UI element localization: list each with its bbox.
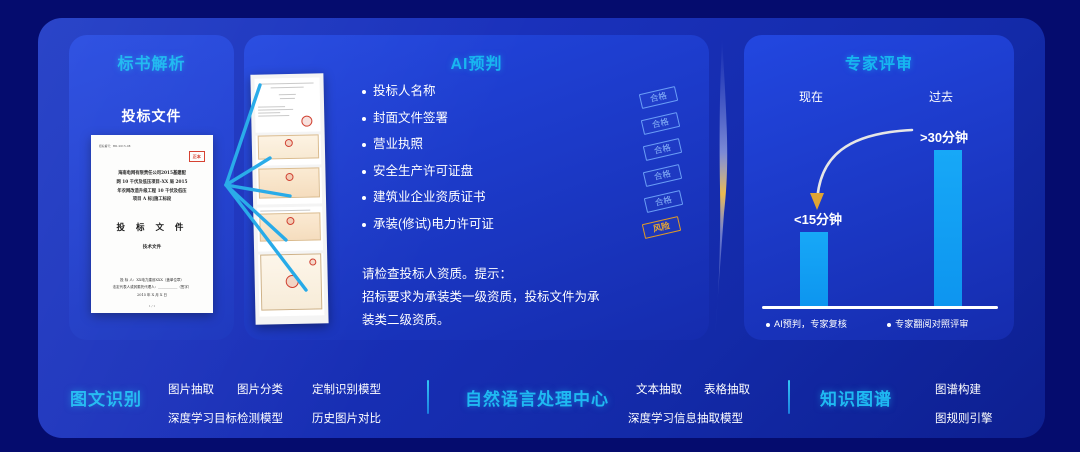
ai-advice-note: 请检查投标人资质。提示： 招标要求为承装类一级资质，投标文件为承 装类二级资质。 (362, 263, 642, 332)
footer-title-image-text: 图文识别 (70, 385, 142, 410)
certificate-scroll-preview[interactable] (250, 73, 328, 324)
panel-title-expert: 专家评审 (744, 50, 1014, 74)
chart-legend-now: AI预判，专家复核 (766, 316, 847, 330)
trend-arrow-icon (744, 35, 1014, 340)
footer-separator (788, 380, 790, 414)
chart-value-past: >30分钟 (920, 127, 968, 146)
footer-group-image-text: 图文识别 图片抽取 图片分类 定制识别模型 深度学习目标检测模型 历史图片对比 (38, 354, 398, 438)
main-card: 标书解析 投标文件 招标编号：BD-2015-08 正本 海南电网有限责任公司2… (38, 18, 1045, 438)
document-page-number: 1 / 1 (91, 304, 213, 308)
checklist-item: 封面文件签署 (362, 112, 602, 125)
certificate-page (258, 253, 324, 316)
chart-legend-past: 专家翻阅对照评审 (887, 316, 969, 330)
document-code: 招标编号：BD-2015-08 (99, 144, 205, 148)
ai-checklist: 投标人名称 封面文件签署 营业执照 安全生产许可证盘 建筑业企业资质证书 承装(… (362, 85, 602, 244)
checklist-item: 投标人名称 (362, 85, 602, 98)
checklist-item: 营业执照 (362, 138, 602, 151)
document-footer: 投 标 人：XX电力建设XXX（盖单位章） 法定代表人或其委托代理人：_____… (99, 277, 205, 299)
checklist-item: 建筑业企业资质证书 (362, 191, 602, 204)
footer-group-nlp: 自然语言处理中心 文本抽取 表格抽取 深度学习信息抽取模型 (438, 354, 808, 438)
footer-item[interactable]: 历史图片对比 (312, 410, 381, 426)
capability-footer: 图文识别 图片抽取 图片分类 定制识别模型 深度学习目标检测模型 历史图片对比 … (38, 354, 1045, 438)
certificate-page (254, 77, 320, 132)
status-badge: 合格 (644, 190, 683, 213)
checklist-item: 承装(修试)电力许可证 (362, 218, 602, 231)
bid-document-preview[interactable]: 招标编号：BD-2015-08 正本 海南电网有限责任公司2015基建配 网 1… (91, 135, 213, 313)
document-body: 海南电网有限责任公司2015基建配 网 10 千伏及低压项目-XX 局 2015… (99, 170, 205, 205)
certificate-page (257, 206, 323, 251)
panel-title-parsing: 标书解析 (69, 50, 234, 74)
panel-ai-prediction: AI预判 (244, 35, 709, 340)
status-badge: 合格 (639, 86, 678, 109)
status-badge: 合格 (641, 112, 680, 135)
footer-item[interactable]: 图片分类 (237, 381, 283, 397)
chart-category-now: 现在 (799, 88, 823, 105)
footer-separator (427, 380, 429, 414)
footer-item[interactable]: 图谱构建 (935, 381, 981, 397)
certificate-page (256, 134, 322, 165)
footer-item[interactable]: 深度学习信息抽取模型 (628, 410, 743, 426)
panel-bid-parsing: 标书解析 投标文件 招标编号：BD-2015-08 正本 海南电网有限责任公司2… (69, 35, 234, 340)
footer-item[interactable]: 图规则引擎 (935, 410, 993, 426)
chart-value-now: <15分钟 (794, 209, 842, 228)
footer-group-knowledge-graph: 知识图谱 图谱构建 图规则引擎 (798, 354, 1045, 438)
chart-bar-past (934, 150, 962, 307)
status-badge: 合格 (643, 138, 682, 161)
footer-item[interactable]: 文本抽取 (636, 381, 682, 397)
status-badge-risk: 风险 (642, 216, 681, 239)
footer-item[interactable]: 深度学习目标检测模型 (168, 410, 283, 426)
footer-item[interactable]: 表格抽取 (704, 381, 750, 397)
chart-bar-now (800, 232, 828, 307)
chart-axis (762, 306, 998, 309)
document-title: 投 标 文 件 (99, 221, 205, 233)
checklist-item: 安全生产许可证盘 (362, 165, 602, 178)
status-badge: 合格 (643, 164, 682, 187)
certificate-page (256, 167, 322, 204)
footer-title-knowledge-graph: 知识图谱 (820, 385, 892, 410)
document-stamp: 正本 (189, 151, 205, 162)
document-subtitle: 技术文件 (99, 244, 205, 250)
panel-expert-review: 专家评审 现在 过去 <15分钟 >30分钟 AI预判，专家复核 专家翻阅对照评… (744, 35, 1014, 340)
footer-item[interactable]: 定制识别模型 (312, 381, 381, 397)
chart-category-past: 过去 (929, 88, 953, 105)
footer-item[interactable]: 图片抽取 (168, 381, 214, 397)
footer-title-nlp: 自然语言处理中心 (465, 385, 609, 410)
bid-document-heading: 投标文件 (69, 106, 234, 126)
panel-title-ai: AI预判 (244, 50, 709, 74)
